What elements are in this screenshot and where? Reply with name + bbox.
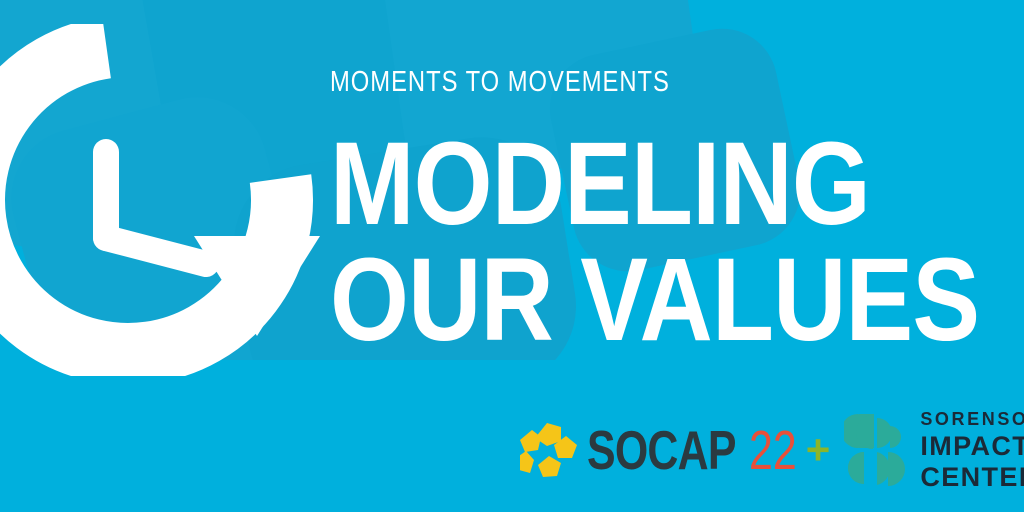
socap-year: 22: [749, 423, 797, 478]
headline-line-1: MODELING: [330, 128, 870, 241]
tagline: MOMENTS TO MOVEMENTS: [330, 66, 670, 99]
sorenson-impact-center-logo[interactable]: SORENSON IMPACT CENTER: [844, 410, 1024, 491]
sorenson-ss-icon: [844, 412, 906, 488]
headline-line-2: OUR VALUES: [330, 244, 979, 357]
plus-separator: +: [806, 429, 831, 471]
clock-rotate-arrow-icon: [0, 24, 328, 376]
sorenson-line-3: CENTER: [920, 464, 1024, 491]
socap-logo[interactable]: SOCAP 22: [520, 422, 810, 478]
sorenson-line-2: IMPACT: [920, 433, 1024, 460]
logo-row: SOCAP 22 +: [520, 404, 1010, 496]
socap-wordmark: SOCAP: [587, 423, 736, 478]
socap-flower-icon: [520, 422, 578, 478]
sorenson-wordmark: SORENSON IMPACT CENTER: [920, 410, 1024, 491]
sorenson-line-1: SORENSON: [920, 410, 1024, 428]
promo-banner: MOMENTS TO MOVEMENTS MODELING OUR VALUES…: [0, 0, 1024, 512]
